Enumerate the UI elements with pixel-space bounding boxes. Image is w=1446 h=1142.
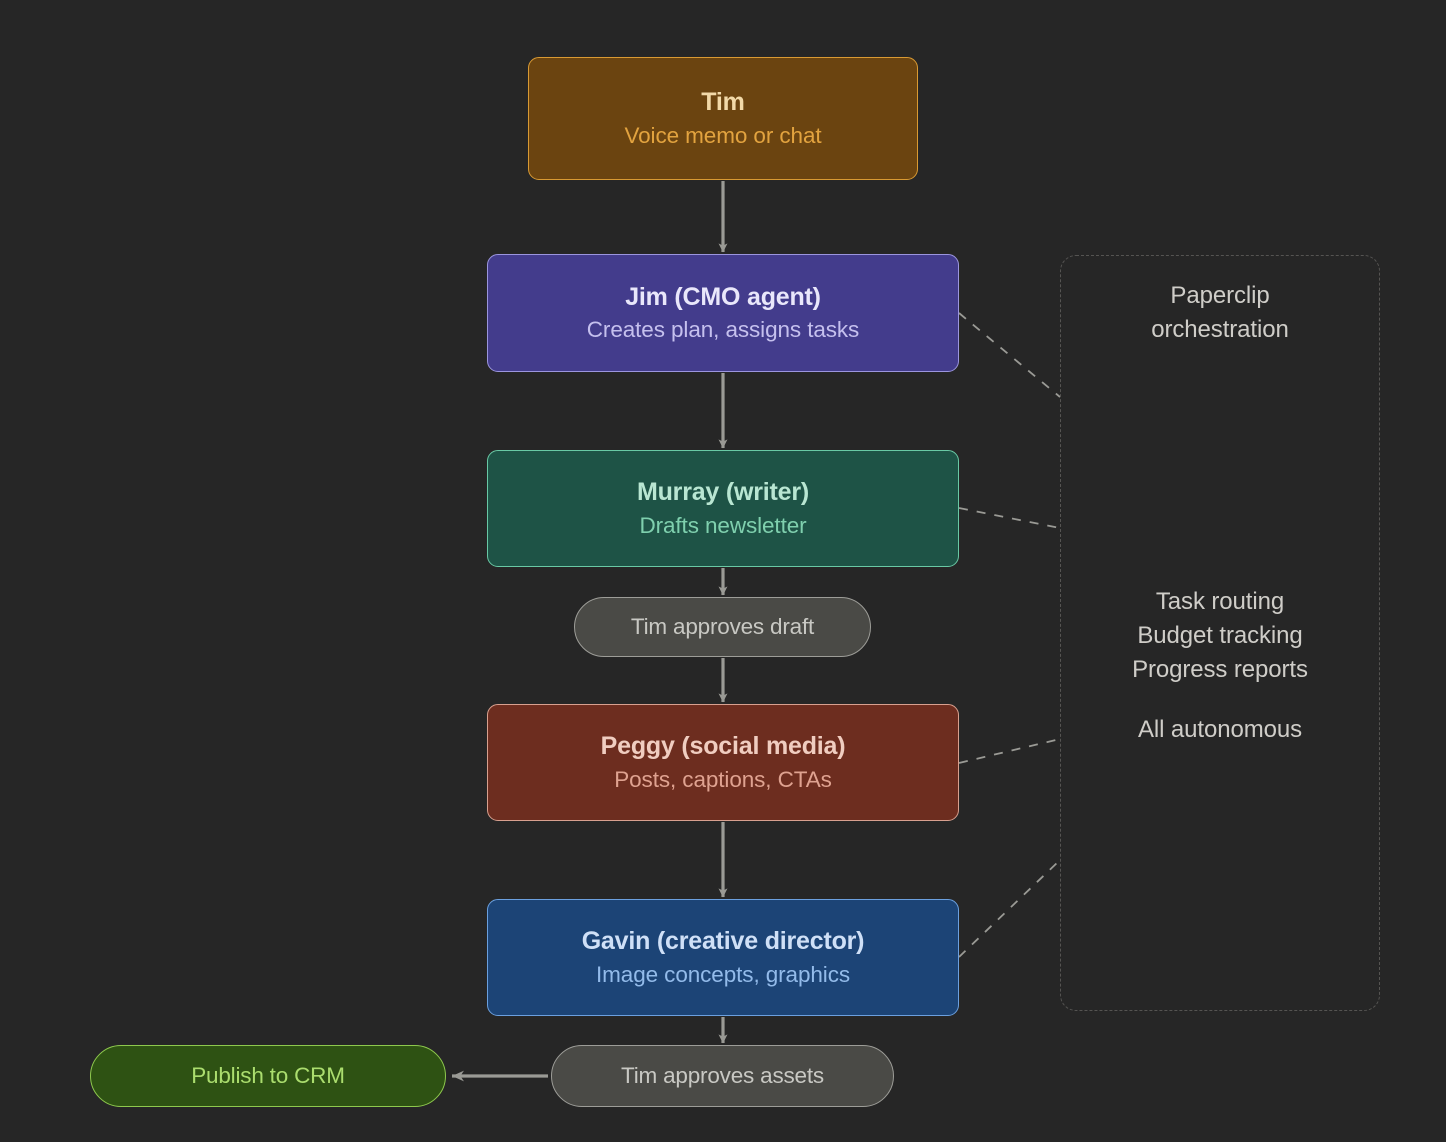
panel-feature-0: Task routing xyxy=(1156,588,1284,615)
node-title: Tim approves assets xyxy=(621,1063,824,1090)
orchestration-panel-footer: All autonomous xyxy=(1060,713,1380,747)
node-title: Gavin (creative director) xyxy=(582,927,865,957)
node-subtitle: Posts, captions, CTAs xyxy=(614,766,832,793)
node-subtitle: Creates plan, assigns tasks xyxy=(587,316,859,343)
link-murray-to-panel xyxy=(959,508,1060,528)
orchestration-panel-features: Task routing Budget tracking Progress re… xyxy=(1060,585,1380,687)
panel-heading-line1: Paperclip xyxy=(1170,282,1269,309)
node-title: Tim approves draft xyxy=(631,614,814,641)
node-title: Tim xyxy=(701,88,744,118)
panel-feature-2: Progress reports xyxy=(1132,656,1308,683)
node-peggy-social-media[interactable]: Peggy (social media) Posts, captions, CT… xyxy=(487,704,959,821)
node-subtitle: Drafts newsletter xyxy=(639,512,806,539)
orchestration-panel-heading: Paperclip orchestration xyxy=(1060,279,1380,347)
node-title: Murray (writer) xyxy=(637,478,809,508)
node-publish-to-crm[interactable]: Publish to CRM xyxy=(90,1045,446,1107)
panel-heading-line2: orchestration xyxy=(1151,316,1288,343)
node-tim-input[interactable]: Tim Voice memo or chat xyxy=(528,57,918,180)
node-gavin-creative-director[interactable]: Gavin (creative director) Image concepts… xyxy=(487,899,959,1016)
node-tim-approves-assets[interactable]: Tim approves assets xyxy=(551,1045,894,1107)
node-subtitle: Voice memo or chat xyxy=(624,122,821,149)
node-title: Publish to CRM xyxy=(191,1063,345,1090)
node-title: Peggy (social media) xyxy=(601,732,846,762)
node-tim-approves-draft[interactable]: Tim approves draft xyxy=(574,597,871,657)
link-peggy-to-panel xyxy=(959,739,1060,763)
link-gavin-to-panel xyxy=(959,860,1060,957)
node-subtitle: Image concepts, graphics xyxy=(596,961,850,988)
diagram-canvas: Paperclip orchestration Task routing Bud… xyxy=(0,0,1446,1142)
link-jim-to-panel xyxy=(959,313,1060,397)
node-title: Jim (CMO agent) xyxy=(625,283,821,313)
panel-feature-1: Budget tracking xyxy=(1137,622,1302,649)
node-jim-cmo-agent[interactable]: Jim (CMO agent) Creates plan, assigns ta… xyxy=(487,254,959,372)
node-murray-writer[interactable]: Murray (writer) Drafts newsletter xyxy=(487,450,959,567)
